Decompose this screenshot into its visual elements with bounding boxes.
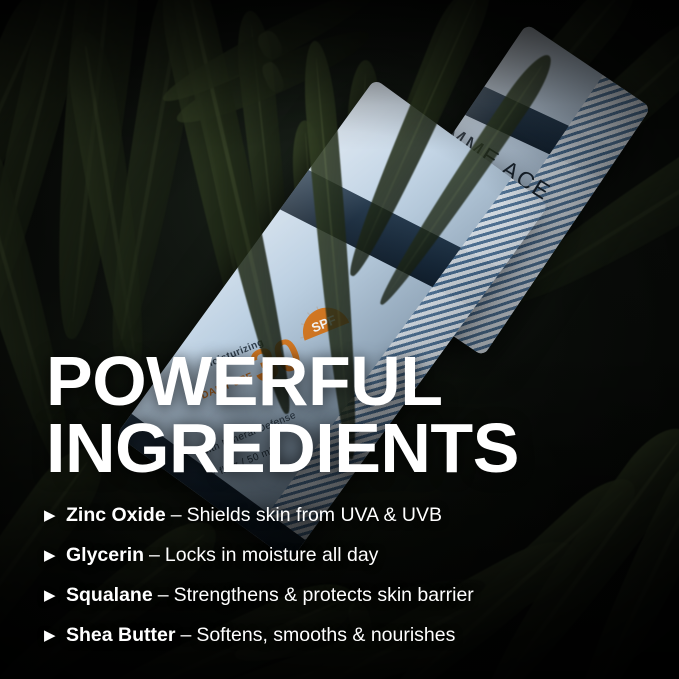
ingredient-benefit: Locks in moisture all day bbox=[165, 544, 379, 567]
ingredient-benefit: Strengthens & protects skin barrier bbox=[174, 584, 474, 607]
triangle-right-icon: ▶ bbox=[44, 548, 66, 563]
separator-dash: – bbox=[153, 584, 174, 607]
headline-line-1: POWERFUL bbox=[46, 348, 519, 415]
ingredient-name: Glycerin bbox=[66, 544, 144, 567]
triangle-right-icon: ▶ bbox=[44, 588, 66, 603]
headline-line-2: INGREDIENTS bbox=[46, 415, 519, 482]
page-title: POWERFUL INGREDIENTS bbox=[46, 348, 519, 481]
separator-dash: – bbox=[144, 544, 165, 567]
ingredient-benefit: Shields skin from UVA & UVB bbox=[187, 504, 442, 527]
product-marketing-image: MME ACE SPF bbox=[0, 0, 679, 679]
ingredient-name: Shea Butter bbox=[66, 624, 175, 647]
ingredient-name: Zinc Oxide bbox=[66, 504, 166, 527]
triangle-right-icon: ▶ bbox=[44, 508, 66, 523]
list-item: ▶ Glycerin – Locks in moisture all day bbox=[44, 535, 644, 575]
list-item: ▶ Zinc Oxide – Shields skin from UVA & U… bbox=[44, 495, 644, 535]
list-item: ▶ Shea Butter – Softens, smooths & nouri… bbox=[44, 615, 644, 655]
triangle-right-icon: ▶ bbox=[44, 628, 66, 643]
ingredient-list: ▶ Zinc Oxide – Shields skin from UVA & U… bbox=[44, 495, 644, 655]
separator-dash: – bbox=[166, 504, 187, 527]
ingredient-name: Squalane bbox=[66, 584, 153, 607]
separator-dash: – bbox=[175, 624, 196, 647]
ingredient-benefit: Softens, smooths & nourishes bbox=[196, 624, 455, 647]
list-item: ▶ Squalane – Strengthens & protects skin… bbox=[44, 575, 644, 615]
